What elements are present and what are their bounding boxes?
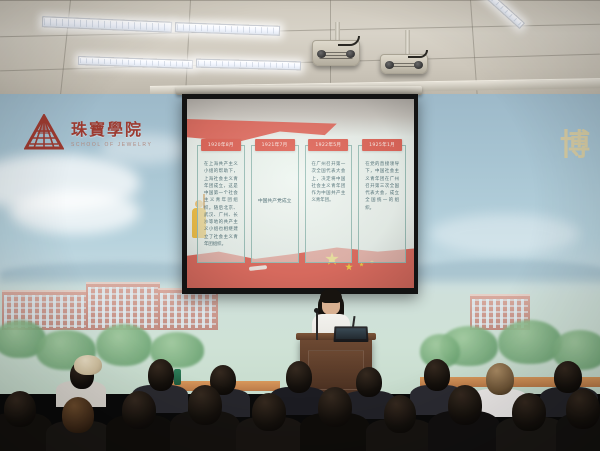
- audience-head: [148, 359, 174, 391]
- ceiling-light-panel: [196, 59, 301, 71]
- audience-head: [356, 367, 382, 397]
- audience-head: [512, 393, 546, 431]
- audience-head: [286, 361, 312, 393]
- timeline-card-body: 在党的直接领导下，中国社会主义青年团在广州召开第三次全国代表大会，成立全国统一的…: [363, 159, 401, 212]
- ceiling: [0, 0, 600, 96]
- timeline-card[interactable]: 1922年5月 在广州召开第一次全国代表大会上，决定将中国社会主义青年团作为中国…: [305, 145, 353, 263]
- presenter-laptop[interactable]: [334, 326, 369, 342]
- projection-screen[interactable]: 1920年8月 在上海共产主义小组的帮助下，上海社会主义青年团成立，这是中国第一…: [182, 94, 418, 294]
- lecture-hall-photo: 厚德 笃学 砺志 敦行 珠寶學院 SCHOOL OF JEWELRY 博: [0, 0, 600, 451]
- audience-head: [122, 391, 156, 429]
- audience-head: [554, 361, 582, 393]
- timeline-card-list: 1920年8月 在上海共产主义小组的帮助下，上海社会主义青年团成立，这是中国第一…: [197, 145, 406, 263]
- wall-calligraphy: 博: [560, 120, 598, 164]
- school-name-cn: 珠寶學院: [71, 116, 152, 140]
- school-name-en: SCHOOL OF JEWELRY: [71, 142, 152, 148]
- audience-head: [566, 389, 600, 429]
- audience-head: [318, 387, 352, 427]
- timeline-card-date: 1925年1月: [362, 139, 402, 151]
- mural-building: [158, 288, 218, 330]
- audience-head: [486, 363, 514, 395]
- audience-head: [384, 395, 416, 433]
- audience-head: [4, 391, 36, 427]
- timeline-card[interactable]: 1920年8月 在上海共产主义小组的帮助下，上海社会主义青年团成立，这是中国第一…: [197, 145, 245, 263]
- audience: [0, 351, 600, 451]
- jewelry-logo-icon: [24, 114, 64, 150]
- microphone-head: [314, 308, 319, 313]
- timeline-card-body: 在广州召开第一次全国代表大会上，决定将中国社会主义青年团作为中国共产主义青年团。: [310, 159, 348, 205]
- timeline-card[interactable]: 1925年1月 在党的直接领导下，中国社会主义青年团在广州召开第三次全国代表大会…: [358, 145, 406, 263]
- audience-head: [252, 393, 286, 431]
- timeline-card-date: 1920年8月: [201, 139, 241, 151]
- water-bottle: [174, 369, 181, 385]
- audience-head: [62, 397, 94, 433]
- audience-head: [188, 385, 222, 425]
- audience-head: [424, 359, 450, 391]
- presentation-slide: 1920年8月 在上海共产主义小组的帮助下，上海社会主义青年团成立，这是中国第一…: [187, 99, 414, 288]
- timeline-card[interactable]: 1921年7月 中国共产党成立: [251, 145, 299, 263]
- school-logo: 珠寶學院 SCHOOL OF JEWELRY: [24, 114, 152, 150]
- mural-building: [86, 282, 160, 330]
- timeline-card-date: 1921年7月: [255, 139, 295, 151]
- audience-head-with-cap: [74, 355, 102, 375]
- ceiling-light-panel: [475, 0, 525, 29]
- microphone-stand: [316, 312, 318, 340]
- timeline-card-body: 在上海共产主义小组的帮助下，上海社会主义青年团成立，这是中国第一个社会主义青年团…: [202, 159, 240, 248]
- ceiling-light-panel: [175, 22, 280, 36]
- ceiling-light-panel: [42, 16, 172, 33]
- timeline-card-body: 中国共产党成立: [256, 159, 294, 257]
- audience-head: [448, 385, 482, 425]
- timeline-card-date: 1922年5月: [308, 139, 348, 151]
